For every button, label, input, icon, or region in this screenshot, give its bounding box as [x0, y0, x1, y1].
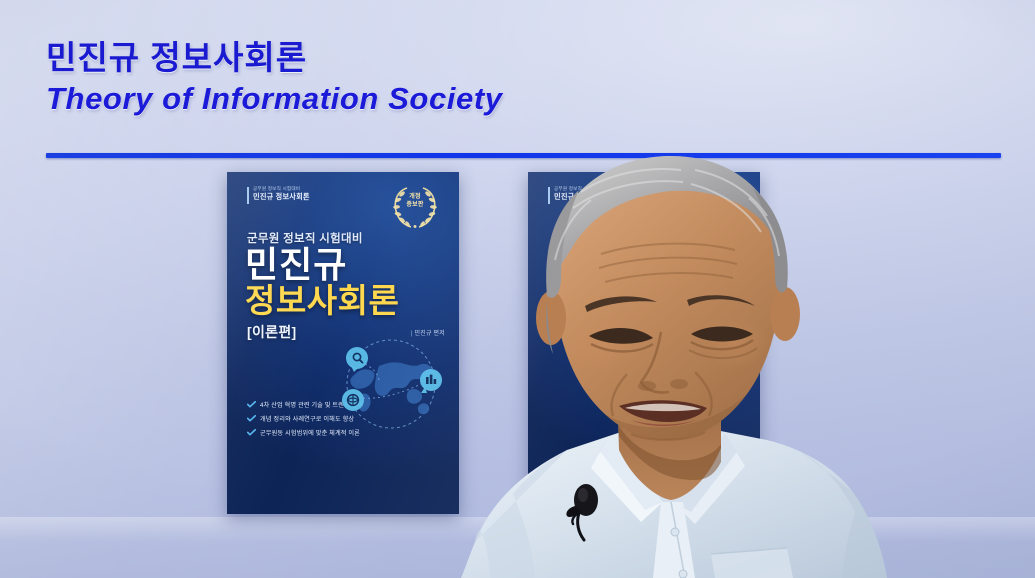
lecture-title-english: Theory of Information Society [46, 82, 1006, 117]
lecture-title-block: 민진규 정보사회론 Theory of Information Society [46, 40, 1006, 117]
lavalier-microphone [562, 482, 610, 550]
presenter-person [395, 150, 955, 578]
presenter-shirt-pocket [711, 548, 793, 578]
presenter-ear-left [536, 291, 566, 345]
lecture-title-korean: 민진규 정보사회론 [46, 40, 1006, 77]
video-lecture-frame: 민진규 정보사회론 Theory of Information Society … [0, 0, 1035, 578]
presenter-ear-right [770, 287, 800, 341]
